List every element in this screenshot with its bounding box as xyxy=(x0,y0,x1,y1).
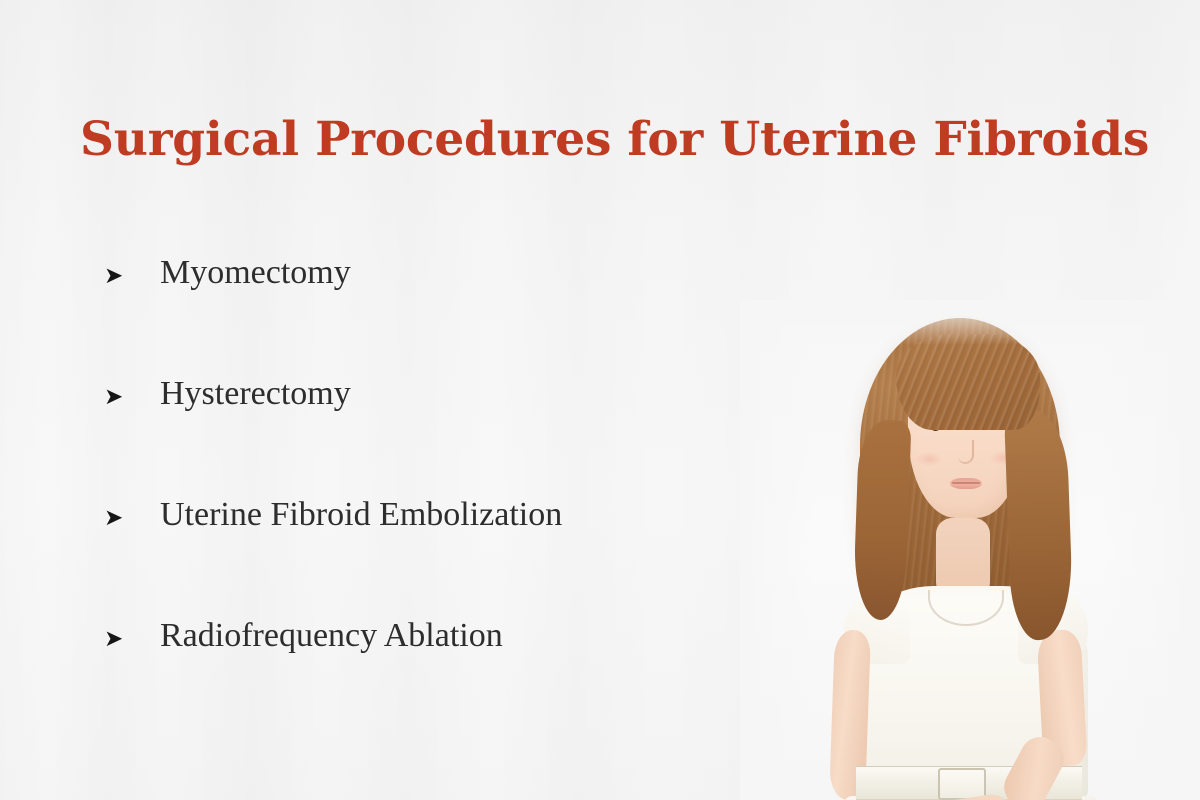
procedure-label: Radiofrequency Ablation xyxy=(160,619,764,653)
mouth xyxy=(950,478,982,489)
procedure-label: Myomectomy xyxy=(160,256,764,290)
hair-side-sweep xyxy=(926,352,1038,424)
blush-left xyxy=(916,452,942,466)
list-item: ➤ Hysterectomy xyxy=(104,377,764,498)
arrowhead-bullet-icon: ➤ xyxy=(104,265,160,288)
list-item: ➤ Myomectomy xyxy=(104,256,764,377)
nose xyxy=(958,440,974,464)
list-item: ➤ Uterine Fibroid Embolization xyxy=(104,498,764,619)
procedure-list: ➤ Myomectomy ➤ Hysterectomy ➤ Uterine Fi… xyxy=(104,256,764,740)
photo-illustration xyxy=(740,300,1200,800)
procedure-label: Uterine Fibroid Embolization xyxy=(160,498,764,532)
arrowhead-bullet-icon: ➤ xyxy=(104,628,160,651)
infographic-root: Surgical Procedures for Uterine Fibroids… xyxy=(0,0,1200,800)
arrowhead-bullet-icon: ➤ xyxy=(104,386,160,409)
procedure-label: Hysterectomy xyxy=(160,377,764,411)
page-title: Surgical Procedures for Uterine Fibroids xyxy=(80,109,1120,171)
arrowhead-bullet-icon: ➤ xyxy=(104,507,160,530)
list-item: ➤ Radiofrequency Ablation xyxy=(104,619,764,740)
woman-photo xyxy=(740,300,1200,800)
